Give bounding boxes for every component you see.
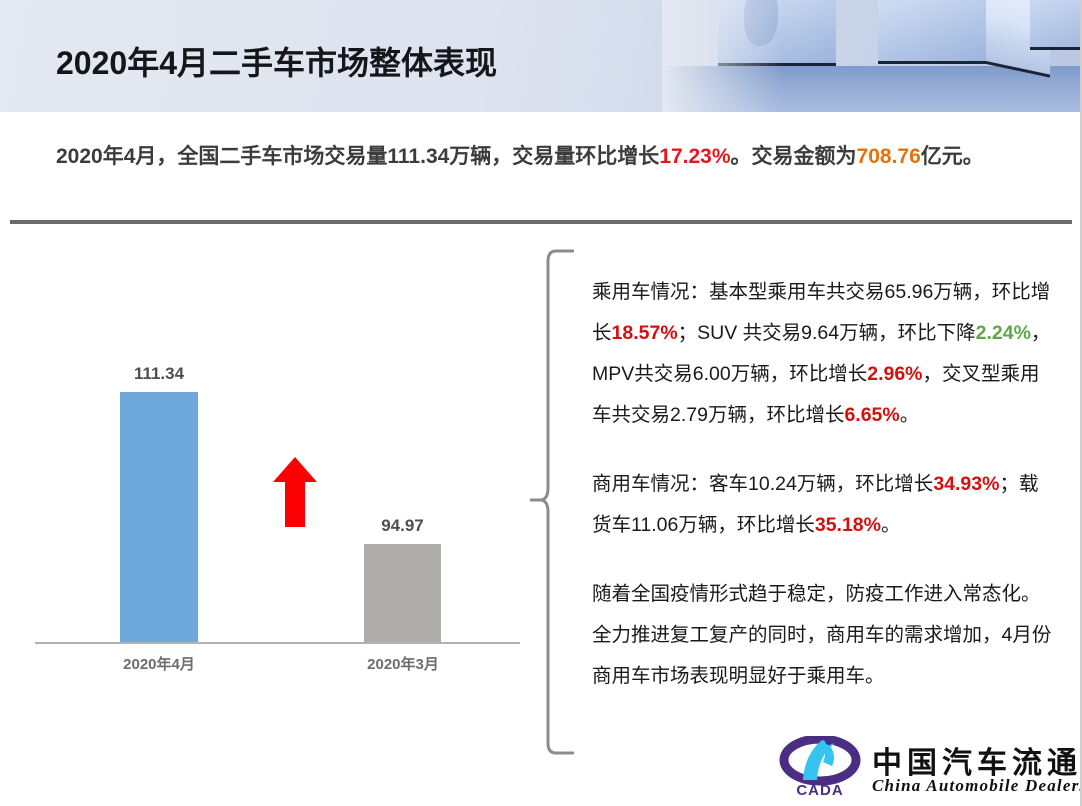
- bar-value-2020-04: 111.34: [120, 364, 198, 384]
- bar-chart: 111.34 94.97 2020年4月 2020年3月: [0, 240, 540, 690]
- cada-emblem-icon: CADA: [776, 736, 868, 798]
- category-label-2020-03: 2020年3月: [343, 653, 463, 674]
- up-arrow-icon: [272, 455, 318, 530]
- cube-right: [1030, 0, 1082, 50]
- cada-abbreviation: CADA: [796, 782, 843, 798]
- bar-2020-03: [364, 544, 441, 642]
- cube-center-front: [878, 0, 986, 64]
- blue-cubes-world-map-graphic: [662, 0, 1082, 112]
- cube-right-front: [1030, 0, 1082, 50]
- note-run: 。: [900, 404, 920, 426]
- cada-logo: CADA 中国汽车流通协会 China Automobile Dealers A…: [776, 736, 1076, 802]
- slide-canvas: 2020年4月二手车市场整体表现 2020年4月，全国二手车市场交易量111.3…: [0, 0, 1082, 806]
- header-band: 2020年4月二手车市场整体表现: [0, 0, 1082, 112]
- subtitle-growth-percent: 17.23%: [659, 145, 730, 168]
- note-run-highlight: 2.24%: [976, 322, 1031, 344]
- note-run-highlight: 34.93%: [933, 473, 999, 495]
- note-run: 随着全国疫情形式趋于稳定，防疫工作进入常态化。全力推进复工复产的同时，商用车的需…: [592, 583, 1051, 687]
- note-run: 商用车情况：客车10.24万辆，环比增长: [592, 473, 933, 495]
- logo-english-name: China Automobile Dealers Association: [872, 776, 1082, 796]
- note-run-highlight: 18.57%: [612, 322, 678, 344]
- note-run: ；SUV 共交易9.64万辆，环比下降: [678, 322, 976, 344]
- subtitle-middle: 。交易金额为: [731, 145, 857, 168]
- subtitle-prefix: 2020年4月，全国二手车市场交易量111.34万辆，交易量环比增长: [56, 145, 659, 168]
- bar-value-2020-03: 94.97: [364, 516, 441, 536]
- header-art-fade: [662, 0, 782, 112]
- note-commercial-vehicles: 商用车情况：客车10.24万辆，环比增长34.93%；载货车11.06万辆，环比…: [592, 464, 1054, 546]
- note-run: 。: [881, 514, 901, 536]
- subtitle-summary: 2020年4月，全国二手车市场交易量111.34万辆，交易量环比增长17.23%…: [56, 140, 984, 170]
- category-label-2020-04: 2020年4月: [99, 653, 219, 674]
- subtitle-suffix: 亿元。: [921, 145, 984, 168]
- note-summary: 随着全国疫情形式趋于稳定，防疫工作进入常态化。全力推进复工复产的同时，商用车的需…: [592, 574, 1054, 697]
- subtitle-amount-value: 708.76: [857, 145, 921, 168]
- note-run-highlight: 35.18%: [815, 514, 881, 536]
- cube-center: [878, 0, 986, 64]
- note-run-highlight: 2.96%: [867, 363, 922, 385]
- note-passenger-vehicles: 乘用车情况：基本型乘用车共交易65.96万辆，环比增长18.57%；SUV 共交…: [592, 272, 1054, 436]
- notes-panel: 乘用车情况：基本型乘用车共交易65.96万辆，环比增长18.57%；SUV 共交…: [592, 272, 1054, 697]
- curly-brace-icon: [530, 248, 574, 756]
- bar-2020-04: [120, 392, 198, 642]
- chart-axis-line: [35, 642, 520, 644]
- page-title: 2020年4月二手车市场整体表现: [56, 38, 497, 84]
- section-divider: [10, 220, 1072, 224]
- note-run-highlight: 6.65%: [844, 404, 899, 426]
